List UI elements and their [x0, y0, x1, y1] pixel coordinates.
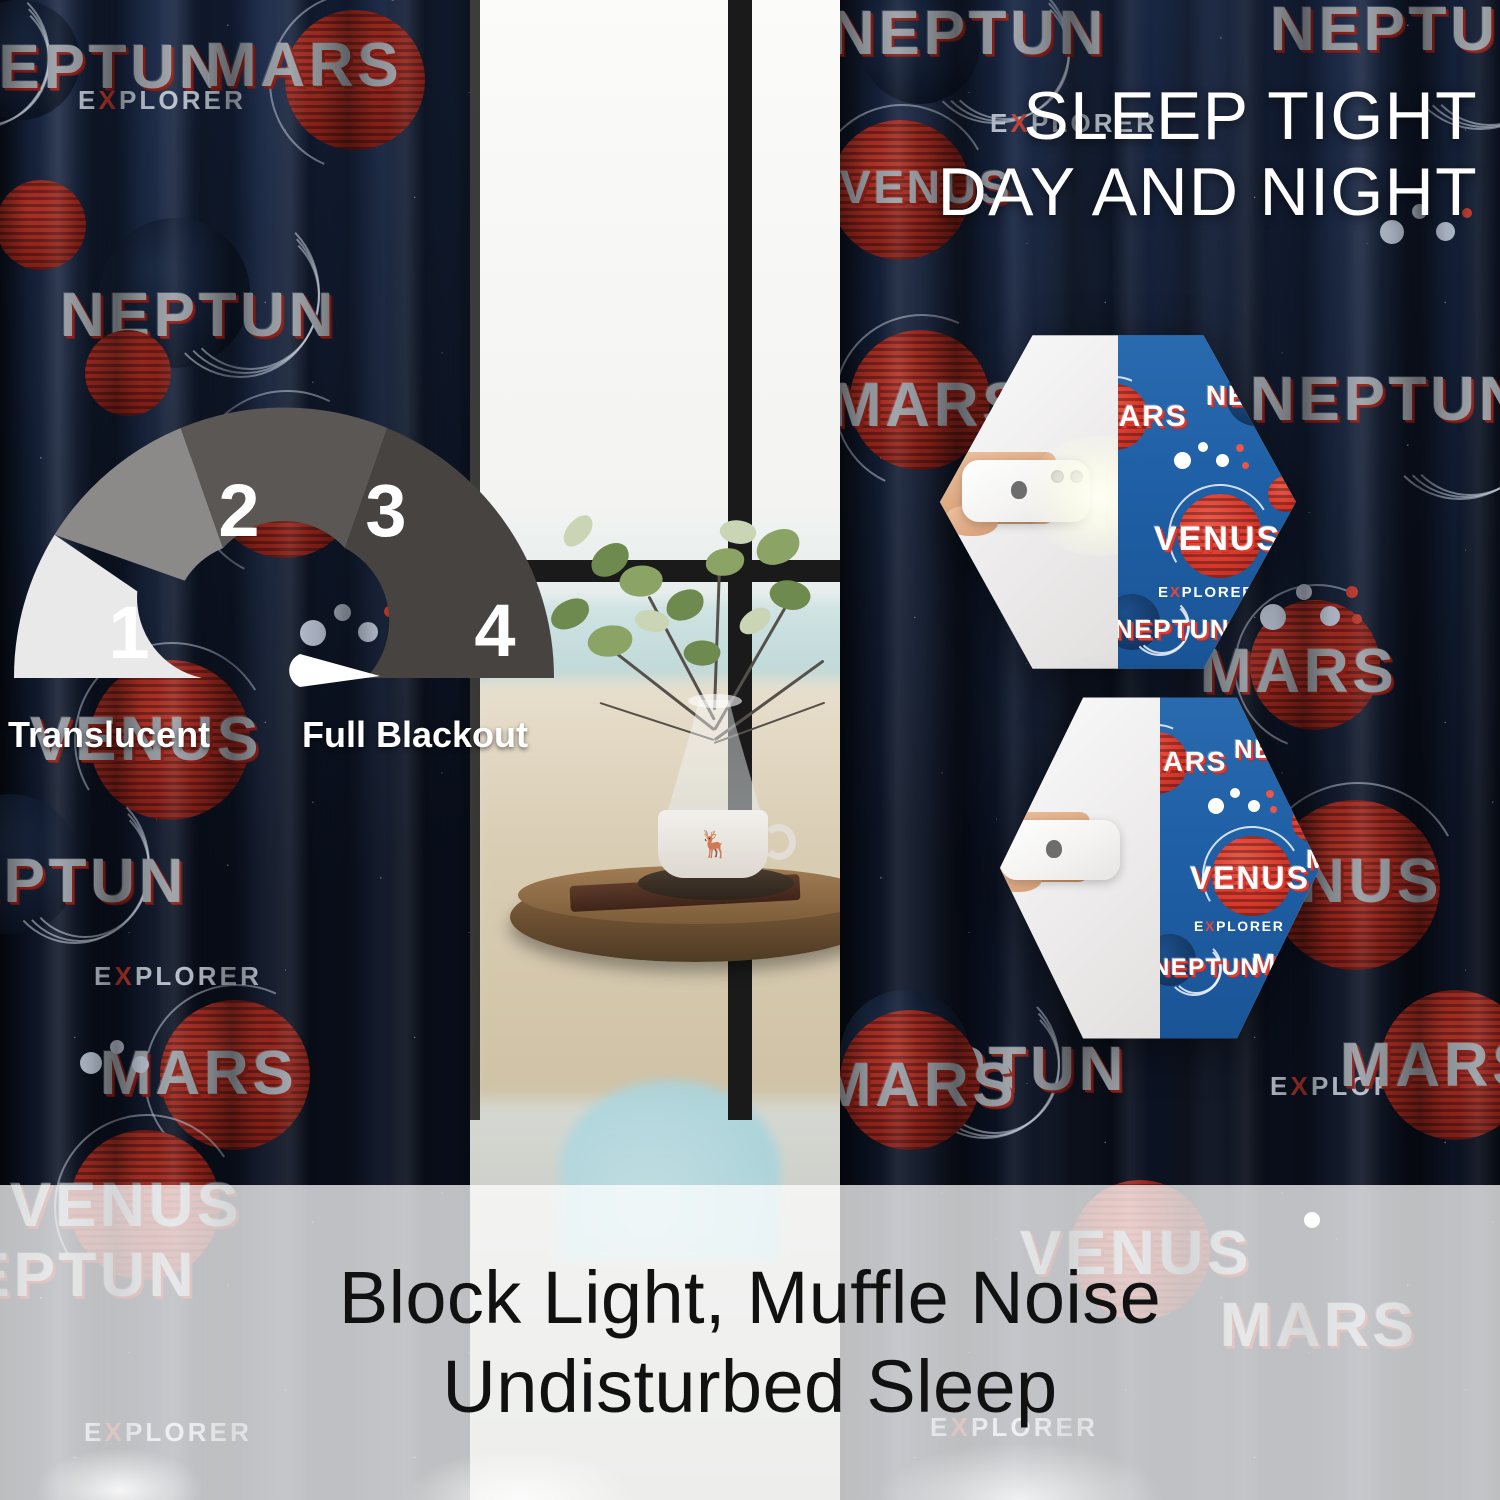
camera-lens-b-1	[1070, 470, 1083, 483]
gauge-number-2: 2	[218, 469, 259, 552]
hex2-motif-neptun-2: NEPTUN	[1160, 942, 1259, 970]
headline: SLEEP TIGHT DAY AND NIGHT	[938, 78, 1478, 230]
gauge-label-translucent: Translucent	[8, 714, 210, 756]
apple-logo-icon-2	[1046, 840, 1062, 858]
hex2-motif-explorer: EXPLORER	[1194, 918, 1320, 934]
gauge-number-3: 3	[365, 469, 406, 552]
hexagon-left-white-1	[940, 332, 1118, 672]
hex2-motif-neptun: NEPT	[1234, 720, 1310, 751]
hexagon-right-fabric-1: MARS NEPTU	[1118, 332, 1296, 672]
motif-explorer-b: EXPLORER	[94, 961, 492, 992]
hex1-motif-mars: MARS	[1118, 384, 1178, 418]
hex2-motif-mars-edge: M	[1306, 844, 1320, 875]
hex1-motif-neptun-2: NEPTUN	[1118, 600, 1230, 631]
motif-neptun-c: NEPTUN	[0, 800, 187, 871]
hexagon-right-fabric-2: MARS NEPT	[1160, 694, 1320, 1042]
motif-r-neptun-a: NEPTUN	[840, 0, 1077, 45]
motif-r-neptun-b: NEPTUN	[1270, 0, 1500, 41]
hex1-motif-mars-2: MA	[1236, 608, 1283, 640]
hex2-motif-mars-2: MA	[1252, 948, 1299, 980]
gauge-svg: 1 2 3 4	[8, 388, 560, 688]
bottom-banner: Block Light, Muffle Noise Undisturbed Sl…	[0, 1185, 1500, 1500]
motif-neptun-a: NEPTUN	[0, 10, 217, 81]
hex2-motif-mars: MARS	[1160, 732, 1215, 764]
phone-2	[1000, 820, 1120, 880]
product-marketing-image: NEPTUN MARS EXPLORER NEPTUN MARS	[0, 0, 1500, 1500]
hexagon-frame-1: MARS NEPTU	[940, 332, 1296, 672]
motif-neptun-b: NEPTUN	[60, 228, 337, 299]
headline-line-2: DAY AND NIGHT	[938, 154, 1478, 230]
motif-mars-c: MARS	[160, 1000, 357, 1071]
vase-rim	[688, 694, 742, 708]
apple-logo-icon-1	[1011, 481, 1027, 499]
motif-r-mars-b: MARS	[1280, 600, 1477, 671]
motif-r-mars-d: MARS	[1340, 990, 1500, 1061]
hex1-motif-neptun: NEPTU	[1206, 366, 1296, 398]
hexagon-frame-2: MARS NEPT	[1000, 694, 1320, 1042]
gauge-segments	[14, 407, 554, 678]
gauge-segment-4[interactable]	[345, 428, 554, 678]
demo-panel-flashlight-off[interactable]: MARS NEPT	[1000, 694, 1320, 1042]
hex2-motif-venus: VENUS	[1190, 836, 1310, 873]
phone-1	[962, 460, 1090, 522]
opacity-level-gauge: 1 2 3 4	[8, 388, 560, 688]
gauge-number-1: 1	[108, 591, 149, 674]
floor-highlight	[0, 1380, 1500, 1500]
motif-mars-a: MARS	[285, 4, 482, 75]
headline-line-1: SLEEP TIGHT	[938, 78, 1478, 154]
gauge-needle	[289, 654, 380, 687]
gauge-number-4: 4	[474, 589, 515, 672]
deer-head-icon: 🦌	[698, 830, 724, 858]
banner-line-1: Block Light, Muffle Noise	[339, 1254, 1161, 1343]
camera-lens-a-1	[1051, 470, 1064, 483]
demo-panel-flashlight-on[interactable]: MARS NEPTU	[940, 332, 1296, 672]
hex1-motif-venus: VENUS	[1154, 494, 1281, 533]
mug-handle	[762, 824, 796, 860]
gauge-label-full-blackout: Full Blackout	[302, 714, 528, 756]
hexagon-left-white-2	[1000, 694, 1160, 1042]
motif-explorer-a: EXPLORER	[78, 85, 492, 116]
